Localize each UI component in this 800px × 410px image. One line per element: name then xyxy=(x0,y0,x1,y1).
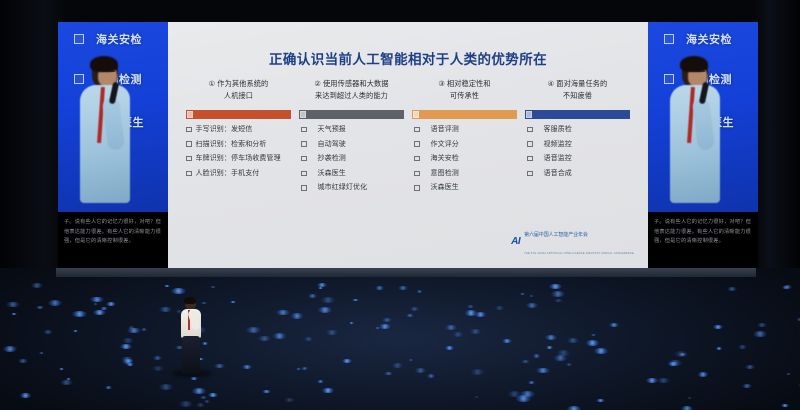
stage-light-dot xyxy=(262,390,271,394)
stage-light-dot xyxy=(200,396,206,399)
list-item[interactable]: 海关安检 xyxy=(410,154,519,163)
stage-light-dot xyxy=(317,283,327,287)
stage-light-dot xyxy=(122,338,133,343)
stage-light-dot xyxy=(415,368,426,373)
list-item-label: 自动驾驶 xyxy=(311,140,346,149)
hall-left-wall xyxy=(0,0,64,268)
slide-column-1: ① 作为其他系统的人机接口 手写识别：发短信 扫描识别：检索和分析 车牌识别：停… xyxy=(184,78,293,198)
stage-light-dot xyxy=(427,374,435,377)
checkbox-icon[interactable] xyxy=(414,171,420,177)
side-panel-left-blue-field: 海关安检 意图检测 沃森医生 xyxy=(58,22,168,212)
conference-subtitle-label: THE 6TH CHINA ARTIFICIAL INTELLIGENCE IN… xyxy=(524,252,634,255)
stage-light-dot xyxy=(210,286,216,288)
list-item[interactable]: 沃森医生 xyxy=(297,169,406,178)
stage-light-dot xyxy=(417,290,422,292)
stage-light-dot xyxy=(276,310,289,316)
stage-light-dot xyxy=(502,339,512,343)
stage-light-dot xyxy=(308,294,317,298)
list-item-label: 客服质检 xyxy=(537,125,572,134)
side-overlay-label-1: 海关安检 xyxy=(96,31,142,47)
list-item-label: 天气预报 xyxy=(311,125,346,134)
stage-light-dot xyxy=(471,369,484,375)
stage-light-dot xyxy=(375,286,383,290)
checkbox-icon[interactable] xyxy=(414,156,420,162)
list-item[interactable]: 扫描识别：检索和分析 xyxy=(184,140,293,149)
led-video-wall: 海关安检 意图检测 沃森医生 子。说有些人它的记忆力很好，对吧？但他表达能力很差… xyxy=(58,22,758,268)
checkbox-icon[interactable] xyxy=(301,156,307,162)
stage-light-dot xyxy=(554,299,562,302)
stage-light-dot xyxy=(753,331,768,337)
list-item-label: 抄袭检测 xyxy=(311,154,346,163)
stage-light-dot xyxy=(410,307,419,311)
list-item-label: 视频监控 xyxy=(537,140,572,149)
column-4-heading: ④ 面对海量任务的不知疲倦 xyxy=(523,78,632,104)
stage-light-dot xyxy=(783,285,792,289)
list-item-label: 作文评分 xyxy=(424,140,459,149)
checkbox-icon[interactable] xyxy=(527,156,533,162)
stage-light-dot xyxy=(738,345,747,349)
stage-light-dot xyxy=(591,334,595,336)
list-item[interactable]: 语音评测 xyxy=(410,125,519,134)
list-item-label: 手写识别：发短信 xyxy=(196,125,253,134)
checkbox-icon[interactable] xyxy=(186,141,192,147)
stage-light-dot xyxy=(73,330,78,332)
stage-light-dot xyxy=(39,352,44,354)
stage-light-dot xyxy=(120,344,132,349)
stage-light-dot xyxy=(742,384,752,388)
stage-light-dot xyxy=(536,368,549,374)
stage-floor xyxy=(0,268,800,410)
checkbox-icon[interactable] xyxy=(527,127,533,133)
checkbox-icon[interactable] xyxy=(414,141,420,147)
stage-light-dot xyxy=(384,372,393,376)
side-checkbox-icon xyxy=(74,34,84,44)
column-3-color-bar xyxy=(412,110,517,119)
stage-light-dot xyxy=(520,293,525,295)
column-3-heading: ③ 相对稳定性和可传承性 xyxy=(410,78,519,104)
list-item[interactable]: 客服质检 xyxy=(523,125,632,134)
checkbox-icon[interactable] xyxy=(301,171,307,177)
stage-light-dot xyxy=(304,337,313,341)
stage-light-dot xyxy=(164,285,170,287)
slide-column-2: ② 使用传感器和大数据来达到超过人类的能力 天气预报 自动驾驶 抄袭检测 沃森医… xyxy=(297,78,406,198)
list-item[interactable]: 语音监控 xyxy=(523,154,632,163)
stage-light-dot xyxy=(398,286,408,290)
stage-light-dot xyxy=(521,360,529,363)
stage-light-dot xyxy=(445,325,457,330)
stage-light-dot xyxy=(179,401,193,407)
stage-light-dot xyxy=(246,327,261,333)
stage-light-dot xyxy=(375,327,380,329)
list-item[interactable]: 人脸识别：手机支付 xyxy=(184,169,293,178)
presenter-hair xyxy=(680,56,708,72)
checkbox-icon[interactable] xyxy=(414,127,420,133)
presenter-trousers xyxy=(182,336,200,374)
list-item-label: 人脸识别：手机支付 xyxy=(196,169,260,178)
stage-light-dot xyxy=(406,314,414,317)
presenter-closeup-figure xyxy=(75,58,137,212)
stage-light-dot xyxy=(171,288,185,294)
presenter-closeup-figure xyxy=(665,58,727,212)
stage-light-dot xyxy=(533,354,541,357)
stage-light-dot xyxy=(153,356,162,360)
stage-light-dot xyxy=(48,300,62,306)
stage-light-dot xyxy=(453,332,463,336)
stage-light-dot xyxy=(342,359,352,363)
stage-light-dot xyxy=(470,329,481,334)
list-item[interactable]: 自动驾驶 xyxy=(297,140,406,149)
stage-light-dot xyxy=(352,299,358,302)
stage-light-dot xyxy=(230,301,236,304)
checkbox-icon[interactable] xyxy=(414,185,420,191)
stage-light-dot xyxy=(796,318,800,321)
stage-light-dot xyxy=(757,323,767,327)
stage-light-dot xyxy=(727,287,736,291)
stage-light-dot xyxy=(495,306,504,310)
stage-light-dot xyxy=(152,366,164,371)
stage-light-dot xyxy=(93,303,98,305)
checkbox-icon[interactable] xyxy=(301,127,307,133)
stage-light-dot xyxy=(72,311,87,317)
column-1-heading: ① 作为其他系统的人机接口 xyxy=(184,78,293,104)
stage-light-dot xyxy=(296,368,301,370)
stage-light-dot xyxy=(192,388,206,394)
stage-light-dot xyxy=(318,287,323,289)
conference-name-label: 第六届中国人工智能产业年会 xyxy=(524,232,588,238)
stage-light-dot xyxy=(60,380,74,386)
stage-light-dot xyxy=(475,312,485,316)
stage-light-dot xyxy=(204,400,210,402)
stage-light-dot xyxy=(322,388,333,393)
stage-light-dot xyxy=(18,359,28,363)
side-overlay-label-1: 海关安检 xyxy=(686,31,732,47)
stage-light-dot xyxy=(43,330,54,335)
stage-light-dot xyxy=(609,323,619,327)
list-item-label: 语音评测 xyxy=(424,125,459,134)
list-item-label: 语音合成 xyxy=(537,169,572,178)
color-bar-chip xyxy=(300,111,306,118)
stage-light-dot xyxy=(105,386,112,389)
checkbox-icon[interactable] xyxy=(527,171,533,177)
stage-light-dot xyxy=(31,283,43,288)
stage-light-dot xyxy=(159,307,172,313)
stage-light-dot xyxy=(59,368,64,370)
stage-light-dot xyxy=(745,365,754,369)
stage-light-dot xyxy=(681,406,693,410)
checkbox-icon[interactable] xyxy=(527,141,533,147)
slide-column-4: ④ 面对海量任务的不知疲倦 客服质检 视频监控 语音监控 语音合成 xyxy=(523,78,632,198)
side-panel-left-caption: 子。说有些人它的记忆力很好，对吧？但他表达能力很差。有些人它的清晰能力很强，但是… xyxy=(58,212,168,268)
side-panel-right-caption: 子。说有些人它的记忆力很好，对吧？但他表达能力很差。有些人它的清晰能力很强，但是… xyxy=(648,212,758,268)
stage-light-dot xyxy=(546,346,553,349)
stage-light-dot xyxy=(596,399,605,403)
stage-light-dot xyxy=(716,347,722,350)
list-item-label: 车牌识别：停车场收费管理 xyxy=(196,154,281,163)
stage-light-dot xyxy=(508,391,521,396)
list-item[interactable]: 手写识别：发短信 xyxy=(184,125,293,134)
list-item[interactable]: 意图检测 xyxy=(410,169,519,178)
slide-column-3: ③ 相对稳定性和可传承性 语音评测 作文评分 海关安检 意图检测 沃森医生 xyxy=(410,78,519,198)
column-3-item-list: 语音评测 作文评分 海关安检 意图检测 沃森医生 xyxy=(410,125,519,192)
stage-light-dot xyxy=(474,396,479,398)
stage-light-dot xyxy=(321,297,336,303)
stage-light-dot xyxy=(127,328,140,334)
stage-light-dot xyxy=(445,346,454,350)
side-panel-left: 海关安检 意图检测 沃森医生 子。说有些人它的记忆力很好，对吧？但他表达能力很差… xyxy=(58,22,168,268)
column-2-item-list: 天气预报 自动驾驶 抄袭检测 沃森医生 城市红绿灯优化 xyxy=(297,125,406,192)
stage-front-edge xyxy=(56,268,756,277)
color-bar-chip xyxy=(526,111,532,118)
stage-light-dot xyxy=(465,310,478,315)
list-item[interactable]: 作文评分 xyxy=(410,140,519,149)
list-item-label: 扫描识别：检索和分析 xyxy=(196,140,267,149)
stage-light-dot xyxy=(258,336,271,341)
stage-light-dot xyxy=(90,297,104,303)
stage-light-dot xyxy=(409,359,413,361)
stage-light-dot xyxy=(214,364,225,368)
checkbox-icon[interactable] xyxy=(186,127,192,133)
side-checkbox-icon xyxy=(664,34,674,44)
list-item-label: 海关安检 xyxy=(424,154,459,163)
list-item-label: 城市红绿灯优化 xyxy=(311,183,368,192)
stage-light-dot xyxy=(687,397,692,399)
stage-light-dot xyxy=(36,306,45,310)
column-1-color-bar xyxy=(186,110,291,119)
stage-light-dot xyxy=(713,325,723,329)
column-2-heading: ② 使用传感器和大数据来达到超过人类的能力 xyxy=(297,78,406,104)
stage-light-dot xyxy=(698,372,709,376)
stage-light-dot xyxy=(657,378,670,383)
stage-light-dot xyxy=(284,398,296,403)
list-item[interactable]: 城市红绿灯优化 xyxy=(297,183,406,192)
slide-footer-logo: AI 第六届中国人工智能产业年会 THE 6TH CHINA ARTIFICIA… xyxy=(511,223,634,259)
stage-light-dot xyxy=(141,328,147,331)
stage-light-dot xyxy=(786,373,791,375)
stage-light-dot xyxy=(326,330,338,335)
list-item-label: 意图检测 xyxy=(424,169,459,178)
stage-light-dot xyxy=(467,305,473,308)
list-item[interactable]: 车牌识别：停车场收费管理 xyxy=(184,154,293,163)
ai-logo-mark: AI xyxy=(511,236,520,247)
stage-light-dot xyxy=(567,406,581,410)
conference-stage-scene: 海关安检 意图检测 沃森医生 子。说有些人它的记忆力很好，对吧？但他表达能力很差… xyxy=(0,0,800,410)
stage-light-dot xyxy=(554,355,567,361)
stage-light-dot xyxy=(529,295,534,297)
list-item[interactable]: 抄袭检测 xyxy=(297,154,406,163)
stage-light-dot xyxy=(291,313,304,318)
list-item[interactable]: 天气预报 xyxy=(297,125,406,134)
checkbox-icon[interactable] xyxy=(186,156,192,162)
stage-light-dot xyxy=(379,324,391,329)
stage-light-dot xyxy=(106,302,116,306)
stage-light-dot xyxy=(781,404,789,408)
stage-light-dot xyxy=(6,302,19,308)
presenter-on-stage xyxy=(178,298,204,374)
list-item-label: 沃森医生 xyxy=(311,169,346,178)
stage-light-dot xyxy=(196,403,205,407)
checkbox-icon[interactable] xyxy=(301,141,307,147)
list-item[interactable]: 沃森医生 xyxy=(410,183,519,192)
stage-light-dot xyxy=(528,381,535,384)
list-item-label: 语音监控 xyxy=(537,154,572,163)
stage-light-dot xyxy=(3,346,17,352)
stage-light-dot xyxy=(301,367,308,370)
column-4-color-bar xyxy=(525,110,630,119)
list-item[interactable]: 语音合成 xyxy=(523,169,632,178)
presentation-slide: 正确认识当前人工智能相对于人类的优势所在 ① 作为其他系统的人机接口 手写识别：… xyxy=(168,22,648,268)
slide-title: 正确认识当前人工智能相对于人类的优势所在 xyxy=(168,48,648,68)
stage-light-dot xyxy=(20,393,31,398)
side-panel-right-blue-field: 海关安检 意图检测 沃森医生 xyxy=(648,22,758,212)
stage-light-dot xyxy=(190,377,197,380)
stage-light-dot xyxy=(317,380,325,383)
list-item[interactable]: 视频监控 xyxy=(523,140,632,149)
stage-light-dot xyxy=(318,307,332,313)
presenter-hair xyxy=(184,297,196,304)
column-2-color-bar xyxy=(299,110,404,119)
stage-light-dot xyxy=(159,384,174,390)
stage-light-dot xyxy=(349,322,354,324)
checkbox-icon[interactable] xyxy=(186,171,192,177)
stage-light-dot xyxy=(567,338,579,343)
stage-light-dot xyxy=(273,333,286,338)
hall-right-wall xyxy=(756,0,800,268)
stage-light-dot xyxy=(382,318,392,322)
slide-columns: ① 作为其他系统的人机接口 手写识别：发短信 扫描识别：检索和分析 车牌识别：停… xyxy=(184,78,632,198)
list-item-label: 沃森医生 xyxy=(424,183,459,192)
stage-light-dot xyxy=(93,310,106,316)
checkbox-icon[interactable] xyxy=(301,185,307,191)
stage-light-dot xyxy=(126,363,134,366)
stage-light-dot xyxy=(526,303,538,308)
side-panel-right: 海关安检 意图检测 沃森医生 子。说有些人它的记忆力很好，对吧？但他表达能力很差… xyxy=(648,22,758,268)
presenter-hair xyxy=(90,56,118,72)
stage-light-dot xyxy=(392,363,404,368)
stage-light-dot xyxy=(586,340,599,346)
stage-light-dot xyxy=(566,363,573,366)
presenter-glasses xyxy=(690,71,705,76)
stage-light-dot xyxy=(545,335,557,340)
column-4-item-list: 客服质检 视频监控 语音监控 语音合成 xyxy=(523,125,632,178)
column-1-item-list: 手写识别：发短信 扫描识别：检索和分析 车牌识别：停车场收费管理 人脸识别：手机… xyxy=(184,125,293,178)
presenter-glasses xyxy=(100,71,115,76)
color-bar-chip xyxy=(187,111,193,118)
stage-light-dot xyxy=(11,313,17,316)
stage-light-dot xyxy=(668,360,683,366)
stage-light-dot xyxy=(551,291,565,297)
color-bar-chip xyxy=(413,111,419,118)
stage-light-dot xyxy=(242,365,251,369)
stage-light-dot xyxy=(208,393,218,397)
stage-light-dot xyxy=(594,348,608,354)
stage-light-dot xyxy=(549,284,562,290)
